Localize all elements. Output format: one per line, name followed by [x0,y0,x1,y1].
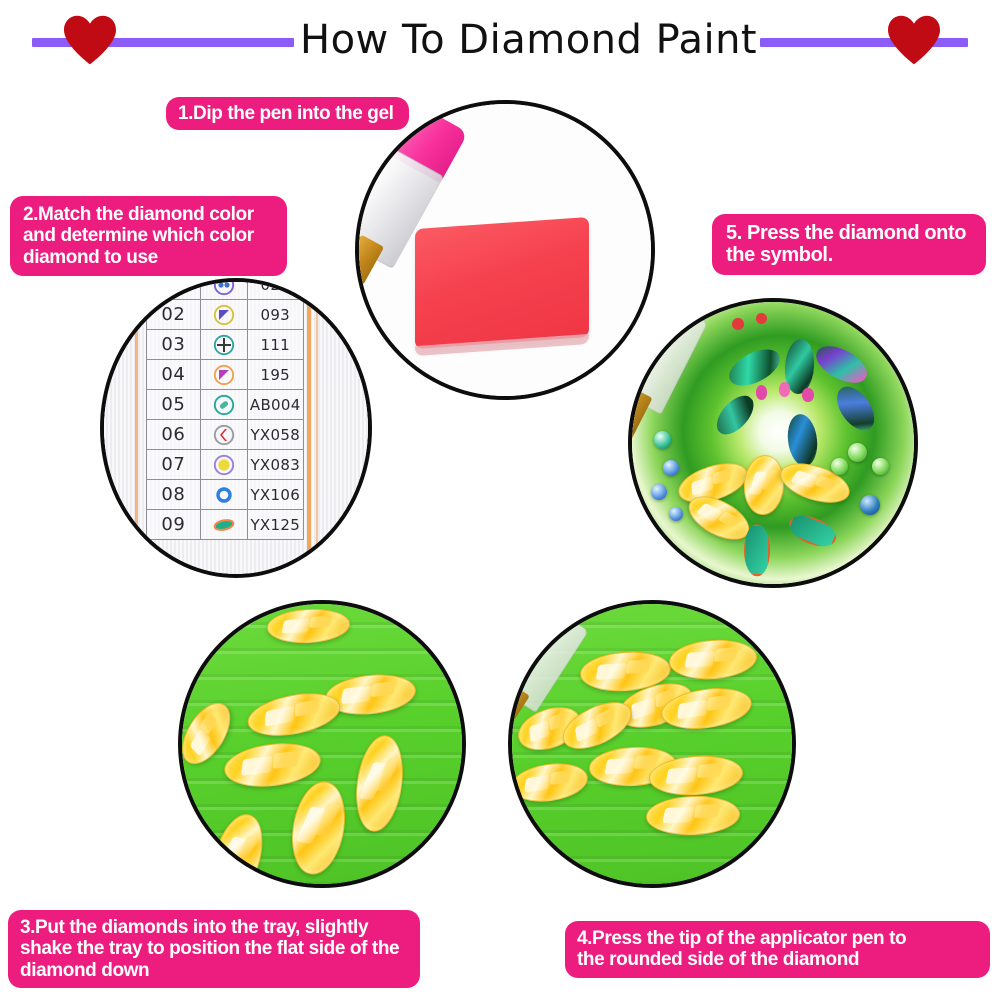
chart-row: 09 YX125 [147,510,304,540]
step-1-label-text: 1.Dip the pen into the gel [178,103,394,124]
chart-row: 06YX058 [147,420,304,450]
gel-pad [415,217,589,349]
step-4-label: 4.Press the tip of the applicator pen to… [565,921,990,978]
photo-color-symbol-chart: 0102002093031110419505AB00406YX05807YX08… [100,278,372,578]
photo-dip-pen-into-gel [355,100,655,400]
chart-row: 08YX106 [147,480,304,510]
leaf-symbol [200,510,247,540]
mandala-canvas [628,298,918,588]
chart-cell-code: YX058 [247,420,303,450]
chart-row: 04195 [147,360,304,390]
chart-cell-number: 03 [147,330,200,360]
chart-cell-number: 05 [147,390,200,420]
chart-row: 07YX083 [147,450,304,480]
step-3-label: 3.Put the diamonds into the tray, slight… [8,910,420,988]
open-ring-symbol [200,480,247,510]
chevron-left-symbol [200,420,247,450]
chart-row: 03111 [147,330,304,360]
chart-cell-code: YX106 [247,480,303,510]
chart-row: 02093 [147,300,304,330]
chart-row: 05AB004 [147,390,304,420]
plus-cross-symbol [200,330,247,360]
chart-cell-code: 195 [247,360,303,390]
dot-in-ring-symbol [200,450,247,480]
chart-cell-code: 111 [247,330,303,360]
step-1-label: 1.Dip the pen into the gel [166,97,409,130]
pen-tip [628,386,653,460]
diamond-color-symbol-chart: 0102002093031110419505AB00406YX05807YX08… [146,278,304,540]
diamond-tray [178,600,466,888]
step-5-label-line-1: 5. Press the diamond onto [726,222,972,244]
heart-decoration-left [62,14,118,66]
triangle-symbol [200,300,247,330]
chart-cell-number: 01 [147,278,200,300]
double-dot-symbol [200,278,247,300]
slash-oval-symbol [200,390,247,420]
chart-cell-number: 08 [147,480,200,510]
photo-press-pen-to-diamond [508,600,796,888]
chart-cell-number: 06 [147,420,200,450]
step-4-label-line-2: the rounded side of the diamond [577,949,978,970]
chart-cell-code: AB004 [247,390,303,420]
chart-margin-stripe-right-thin [316,278,318,578]
chart-cell-code: 093 [247,300,303,330]
step-2-label-line-2: and determine which color [23,225,274,246]
heart-decoration-right [886,14,942,66]
infographic-canvas: How To Diamond Paint 0102002093031110419… [0,0,1001,1001]
step-2-label-line-3: diamond to use [23,247,274,268]
diamond-tray [508,600,796,888]
chart-cell-number: 04 [147,360,200,390]
step-2-label-line-1: 2.Match the diamond color [23,204,274,225]
chart-cell-code: YX083 [247,450,303,480]
step-3-label-line-3: diamond down [20,960,408,981]
chart-row: 01020 [147,278,304,300]
chart-margin-stripe-left [135,278,138,578]
step-4-label-line-1: 4.Press the tip of the applicator pen to [577,928,978,949]
photo-diamonds-in-tray [178,600,466,888]
photo-press-diamond-onto-symbol [628,298,918,588]
step-5-label: 5. Press the diamond onto the symbol. [712,214,986,275]
step-2-label: 2.Match the diamond color and determine … [10,196,287,276]
chart-margin-stripe-right [307,278,311,578]
triangle-symbol [200,360,247,390]
page-title: How To Diamond Paint [300,17,757,63]
step-3-label-line-2: shake the tray to position the flat side… [20,938,408,959]
chart-cell-code: YX125 [247,510,303,540]
chart-cell-code: 020 [247,278,303,300]
chart-cell-number: 02 [147,300,200,330]
chart-cell-number: 07 [147,450,200,480]
step-3-label-line-1: 3.Put the diamonds into the tray, slight… [20,917,408,938]
chart-cell-number: 09 [147,510,200,540]
step-5-label-line-2: the symbol. [726,244,972,266]
